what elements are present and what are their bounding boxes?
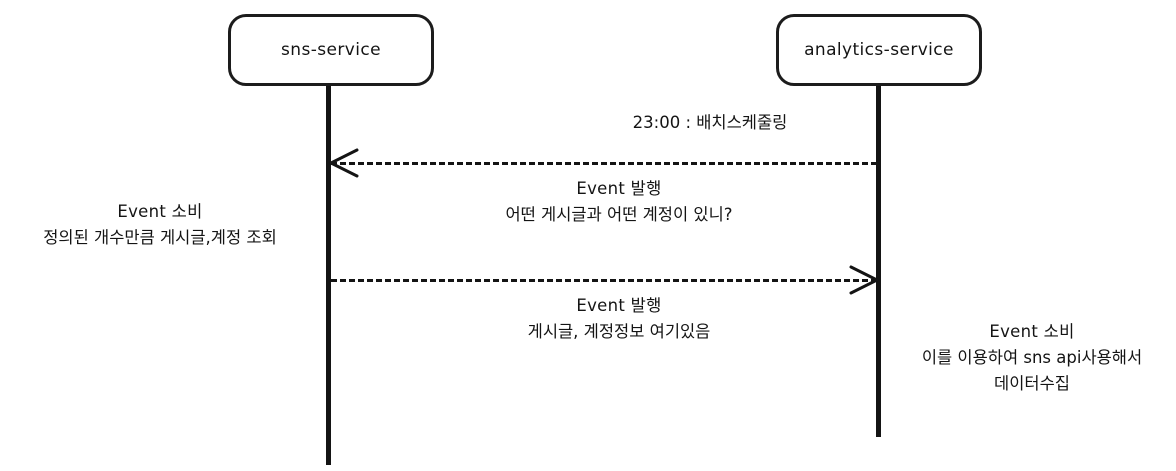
message-label-event-request: Event 발행 어떤 게시글과 어떤 계정이 있니? — [454, 176, 784, 228]
participant-label-analytics-service: analytics-service — [804, 40, 954, 60]
lifeline-analytics-service — [876, 86, 881, 437]
note-left-title: Event 소비 — [0, 199, 320, 225]
note-right-title: Event 소비 — [888, 319, 1176, 345]
note-right-detail-line-1: 이를 이용하여 sns api사용해서 — [888, 345, 1176, 371]
message-title-event-response: Event 발행 — [454, 293, 784, 319]
arrowhead-left-icon — [329, 146, 359, 180]
message-title-event-request: Event 발행 — [454, 176, 784, 202]
message-line-event-response — [331, 279, 877, 282]
schedule-label: 23:00 : 배치스케줄링 — [560, 110, 860, 136]
message-line-event-request — [331, 162, 877, 165]
message-detail-event-response: 게시글, 계정정보 여기있음 — [454, 319, 784, 345]
participant-box-analytics-service[interactable]: analytics-service — [776, 14, 982, 86]
lifeline-sns-service — [326, 86, 331, 465]
participant-box-sns-service[interactable]: sns-service — [228, 14, 434, 86]
note-left-detail: 정의된 개수만큼 게시글,계정 조회 — [0, 225, 320, 251]
message-label-event-response: Event 발행 게시글, 계정정보 여기있음 — [454, 293, 784, 345]
arrowhead-right-icon — [849, 263, 879, 297]
participant-label-sns-service: sns-service — [281, 40, 381, 60]
schedule-label-text: 23:00 : 배치스케줄링 — [560, 110, 860, 136]
note-right-event-consume: Event 소비 이를 이용하여 sns api사용해서 데이터수집 — [888, 319, 1176, 397]
note-left-event-consume: Event 소비 정의된 개수만큼 게시글,계정 조회 — [0, 199, 320, 251]
note-right-detail-line-2: 데이터수집 — [888, 371, 1176, 397]
message-detail-event-request: 어떤 게시글과 어떤 계정이 있니? — [454, 202, 784, 228]
sequence-diagram: sns-service analytics-service 23:00 : 배치… — [0, 0, 1176, 471]
